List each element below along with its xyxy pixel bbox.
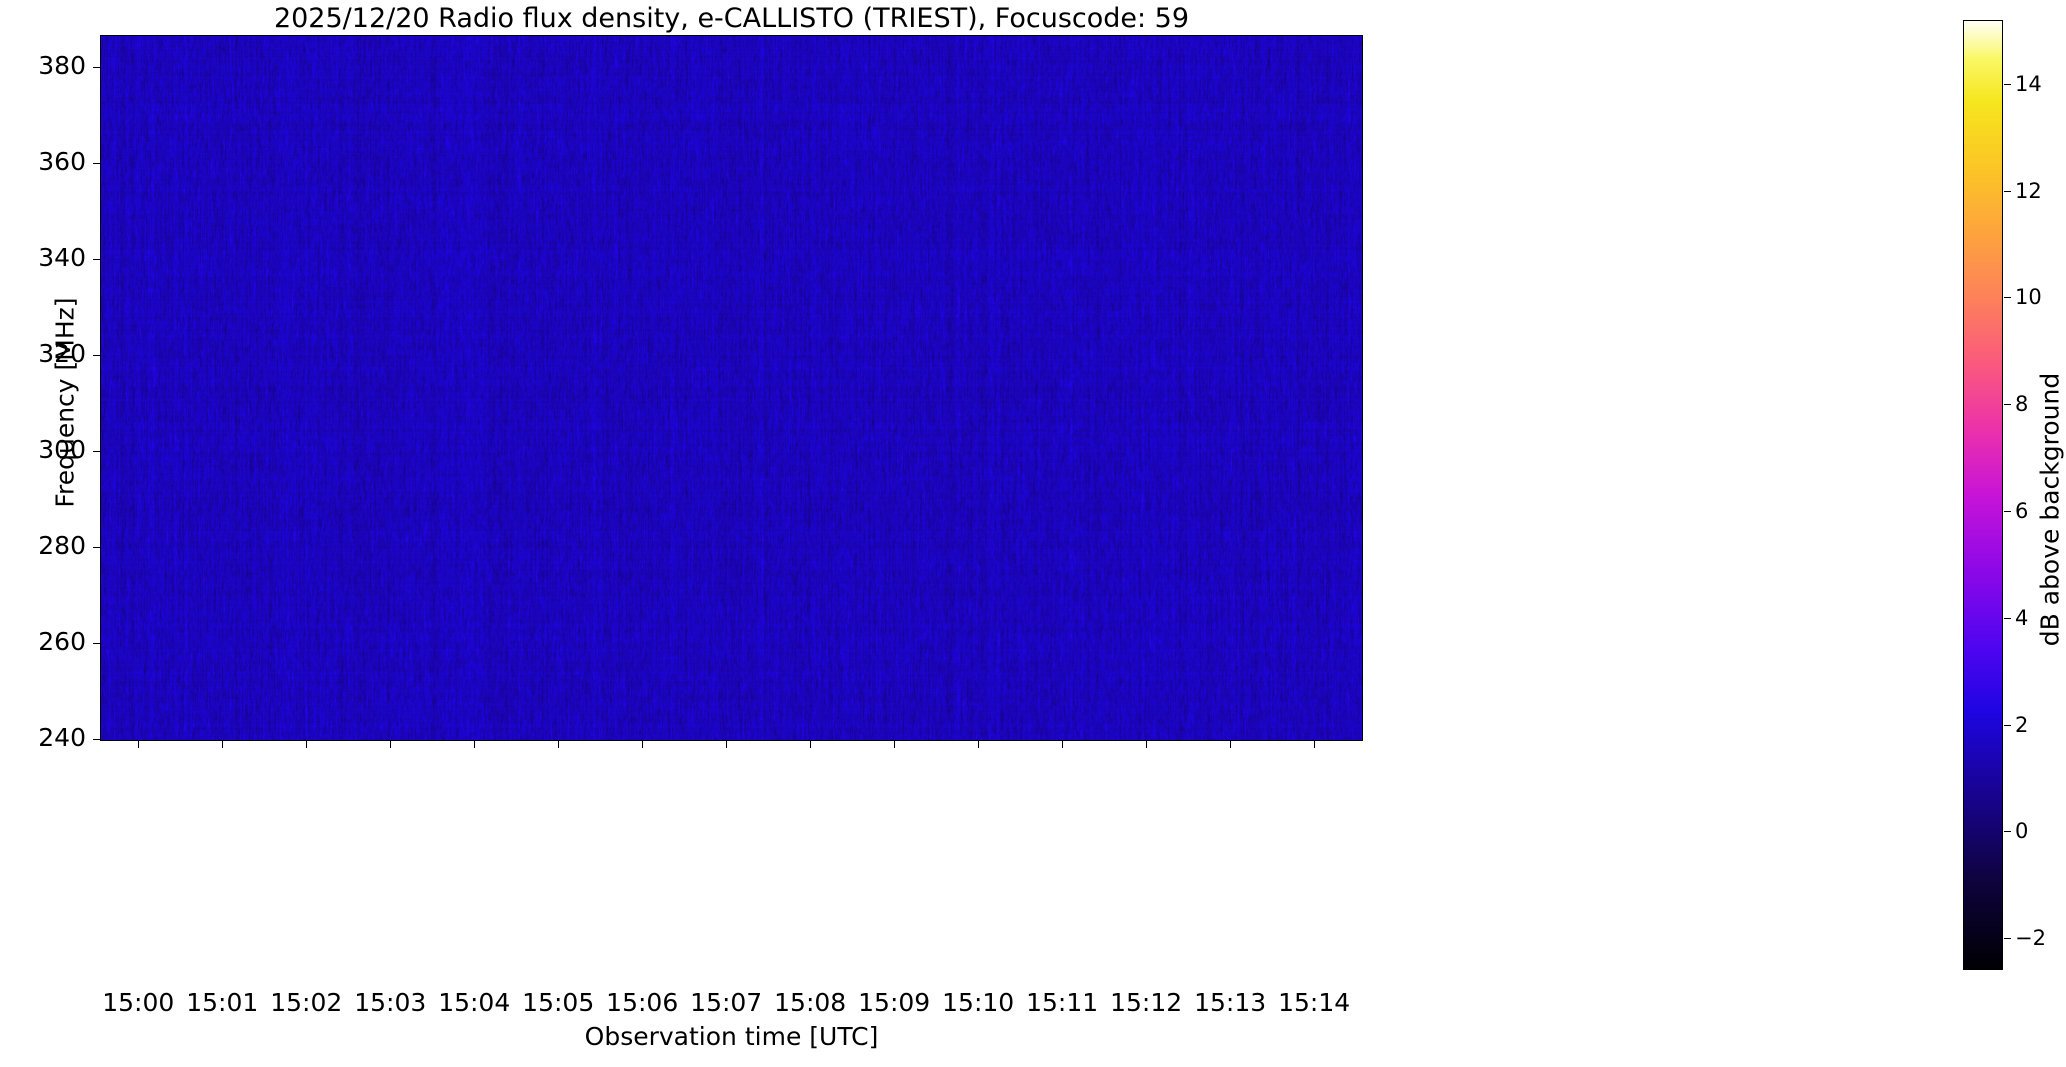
- y-tick-mark: [93, 547, 100, 548]
- y-tick-mark: [93, 355, 100, 356]
- colorbar-tick-mark: [2004, 404, 2011, 405]
- x-tick-mark: [474, 741, 475, 748]
- y-tick-mark: [93, 163, 100, 164]
- x-tick-mark: [642, 741, 643, 748]
- y-tick-mark: [93, 451, 100, 452]
- y-tick-label: 340: [0, 243, 86, 272]
- colorbar-tick-label: 14: [2015, 72, 2042, 96]
- y-tick-label: 300: [0, 435, 86, 464]
- x-tick-mark: [1062, 741, 1063, 748]
- y-tick-label: 260: [0, 627, 86, 656]
- x-axis-label: Observation time [UTC]: [100, 1022, 1363, 1051]
- colorbar-tick-label: 4: [2015, 606, 2028, 630]
- colorbar-tick-label: 12: [2015, 179, 2042, 203]
- x-tick-label: 15:00: [102, 988, 174, 1017]
- x-tick-mark: [726, 741, 727, 748]
- colorbar-tick-label: 0: [2015, 819, 2028, 843]
- x-tick-label: 15:04: [438, 988, 510, 1017]
- y-tick-label: 240: [0, 723, 86, 752]
- x-tick-label: 15:05: [522, 988, 594, 1017]
- x-tick-label: 15:12: [1110, 988, 1182, 1017]
- y-tick-mark: [93, 259, 100, 260]
- y-tick-label: 280: [0, 531, 86, 560]
- colorbar-axis-label: dB above background: [2036, 230, 2065, 790]
- x-tick-mark: [894, 741, 895, 748]
- page-title: 2025/12/20 Radio flux density, e-CALLIST…: [100, 4, 1363, 34]
- x-tick-label: 15:09: [858, 988, 930, 1017]
- x-tick-label: 15:10: [942, 988, 1014, 1017]
- x-tick-mark: [138, 741, 139, 748]
- y-tick-mark: [93, 739, 100, 740]
- x-tick-mark: [306, 741, 307, 748]
- colorbar: [1963, 20, 2003, 970]
- x-tick-label: 15:13: [1194, 988, 1266, 1017]
- x-tick-mark: [1230, 741, 1231, 748]
- colorbar-tick-label: 2: [2015, 713, 2028, 737]
- x-tick-label: 15:07: [690, 988, 762, 1017]
- colorbar-tick-mark: [2004, 725, 2011, 726]
- y-tick-label: 380: [0, 51, 86, 80]
- x-tick-mark: [1314, 741, 1315, 748]
- colorbar-tick-mark: [2004, 831, 2011, 832]
- spectrogram-heatmap-image: [101, 36, 1362, 740]
- colorbar-tick-mark: [2004, 84, 2011, 85]
- colorbar-tick-mark: [2004, 938, 2011, 939]
- colorbar-tick-label: 8: [2015, 392, 2028, 416]
- colorbar-tick-mark: [2004, 191, 2011, 192]
- x-tick-label: 15:06: [606, 988, 678, 1017]
- x-tick-mark: [978, 741, 979, 748]
- colorbar-tick-mark: [2004, 618, 2011, 619]
- spectrogram-axes: [100, 35, 1363, 741]
- y-tick-mark: [93, 643, 100, 644]
- x-tick-mark: [558, 741, 559, 748]
- x-tick-label: 15:02: [270, 988, 342, 1017]
- colorbar-tick-label: 6: [2015, 499, 2028, 523]
- colorbar-tick-label: −2: [2015, 926, 2046, 950]
- x-tick-mark: [810, 741, 811, 748]
- x-tick-label: 15:03: [354, 988, 426, 1017]
- x-tick-label: 15:14: [1278, 988, 1350, 1017]
- colorbar-tick-mark: [2004, 511, 2011, 512]
- x-tick-label: 15:08: [774, 988, 846, 1017]
- y-tick-label: 320: [0, 339, 86, 368]
- colorbar-tick-mark: [2004, 297, 2011, 298]
- y-tick-label: 360: [0, 147, 86, 176]
- x-tick-mark: [222, 741, 223, 748]
- x-tick-label: 15:01: [186, 988, 258, 1017]
- x-tick-mark: [390, 741, 391, 748]
- x-tick-mark: [1146, 741, 1147, 748]
- colorbar-gradient: [1964, 21, 2002, 969]
- x-tick-label: 15:11: [1026, 988, 1098, 1017]
- y-tick-mark: [93, 67, 100, 68]
